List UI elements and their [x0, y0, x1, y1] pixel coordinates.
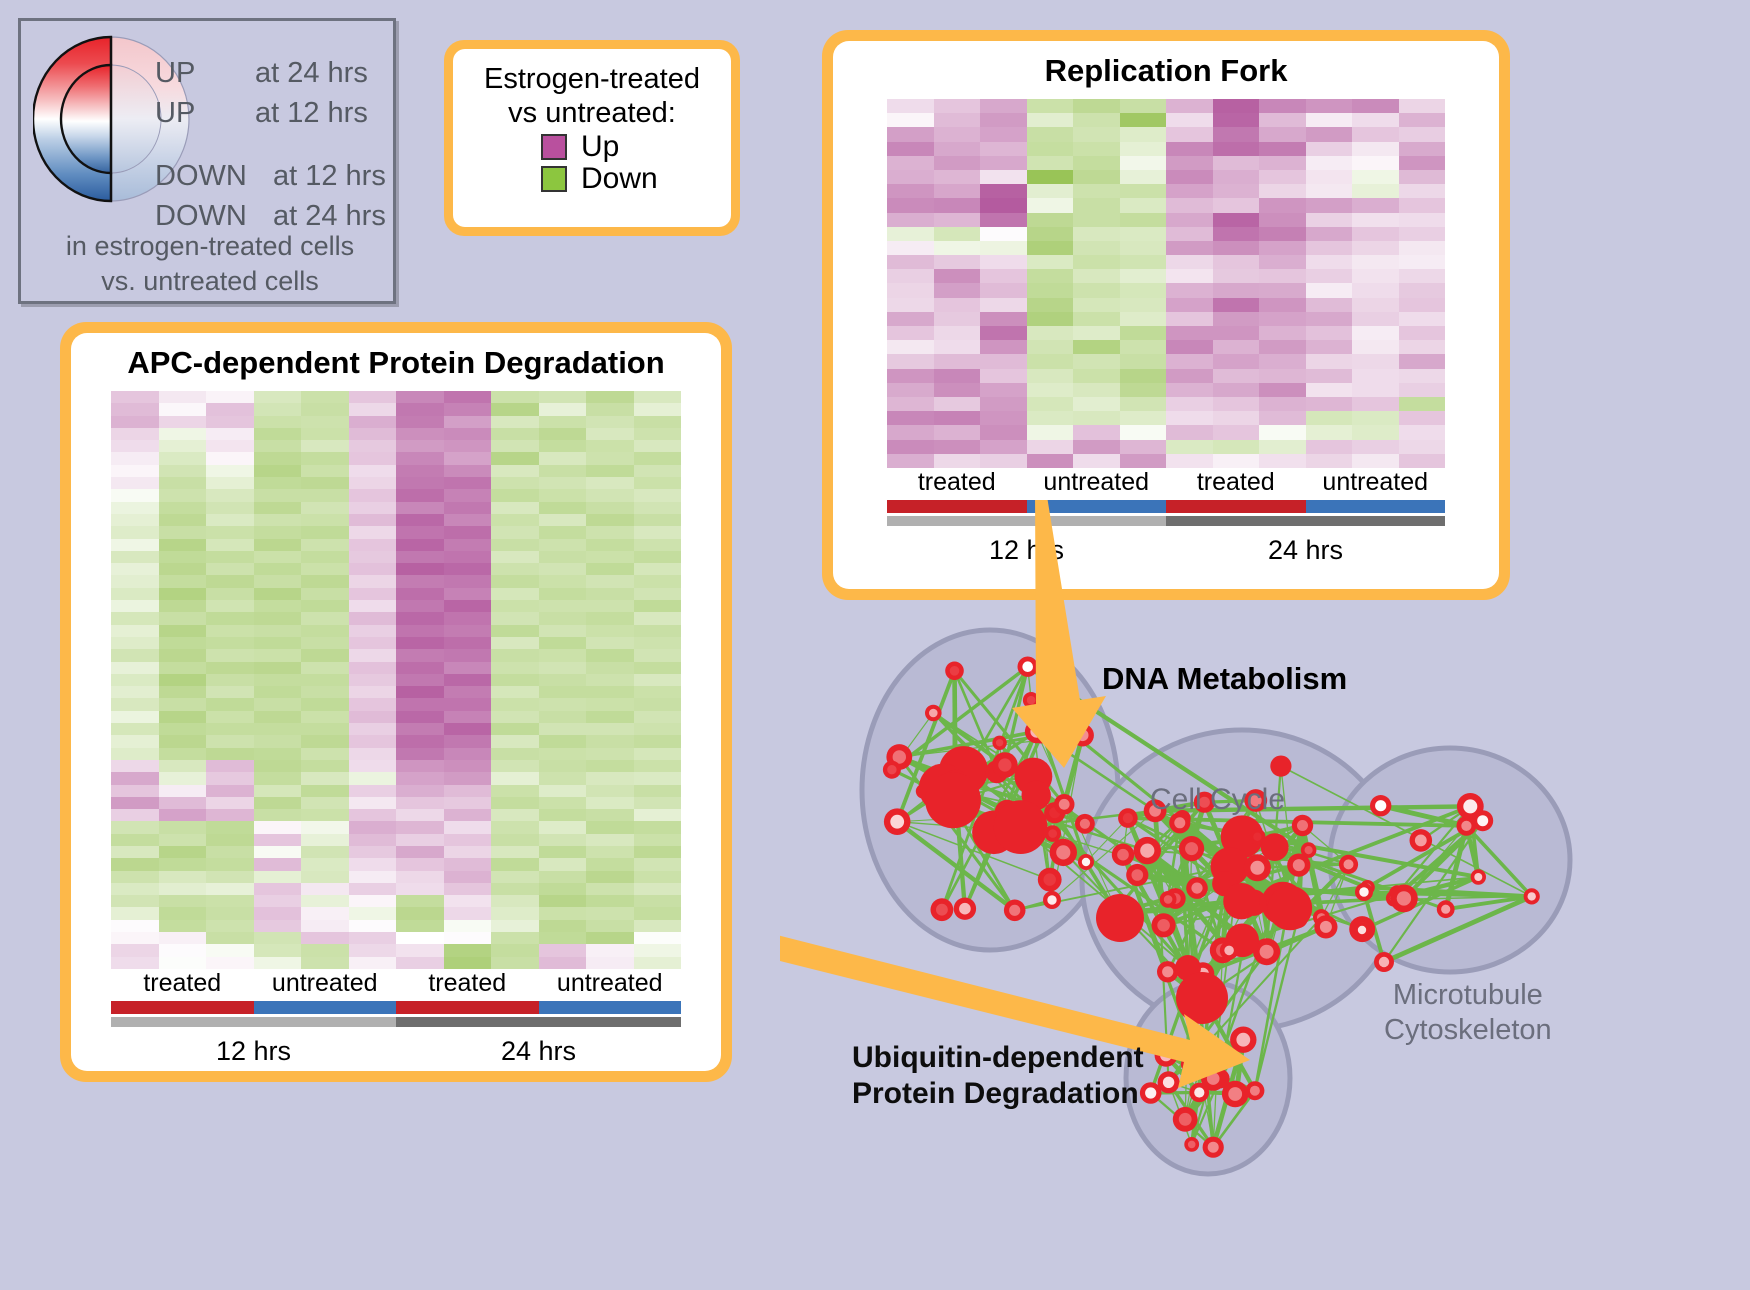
heatmap-row [887, 298, 1445, 312]
heatmap-cell [539, 514, 587, 526]
heatmap-cell [586, 871, 634, 883]
heatmap-cell [444, 883, 492, 895]
heatmap-cell [1166, 269, 1213, 283]
heatmap-cell [301, 575, 349, 587]
heatmap-group-label: untreated [1306, 468, 1446, 497]
heatmap-cell [1213, 354, 1260, 368]
heatmap-cell [887, 397, 934, 411]
heatmap-cell [444, 465, 492, 477]
heatmap-row [111, 760, 681, 772]
heatmap-cell [539, 637, 587, 649]
heatmap-cell [586, 932, 634, 944]
updown-legend-inner: Estrogen-treated vs untreated: Up Down [453, 49, 731, 227]
updown-legend-card: Estrogen-treated vs untreated: Up Down [444, 40, 740, 236]
heatmap-cell [111, 551, 159, 563]
heatmap-cell [159, 588, 207, 600]
heatmap-cell [1306, 454, 1353, 468]
heatmap-cell [444, 637, 492, 649]
heatmap-cell [1259, 113, 1306, 127]
heatmap-cell [396, 809, 444, 821]
heatmap-cell [1306, 170, 1353, 184]
heatmap-cell [539, 772, 587, 784]
heatmap-cell [539, 821, 587, 833]
heatmap-cell [934, 369, 981, 383]
heatmap-cell [1259, 170, 1306, 184]
heatmap-cell [1259, 255, 1306, 269]
heatmap-cell [444, 834, 492, 846]
heatmap-row [887, 170, 1445, 184]
heatmap-row [887, 340, 1445, 354]
heatmap-cell [1120, 241, 1167, 255]
heatmap-cell [980, 156, 1027, 170]
heatmap-cell [1120, 411, 1167, 425]
heatmap-cell [1120, 99, 1167, 113]
heatmap-cell [111, 920, 159, 932]
heatmap-cell [1213, 113, 1260, 127]
heatmap-cell [887, 369, 934, 383]
heatmap-cell [1352, 440, 1399, 454]
heatmap-cell [1213, 454, 1260, 468]
heatmap-cell [1352, 383, 1399, 397]
heatmap-cell [491, 871, 539, 883]
heatmap-cell [206, 662, 254, 674]
heatmap-cell [887, 340, 934, 354]
heatmap-cell [887, 312, 934, 326]
heatmap-cell [159, 711, 207, 723]
heatmap-cell [634, 452, 682, 464]
heatmap-cell [444, 575, 492, 587]
heatmap-cell [444, 502, 492, 514]
heatmap-cell [539, 452, 587, 464]
heatmap-cell [206, 944, 254, 956]
heatmap-cell [349, 489, 397, 501]
heatmap-cell [349, 391, 397, 403]
heatmap-cell [1073, 298, 1120, 312]
heatmap-cell [444, 391, 492, 403]
heatmap-cell [444, 858, 492, 870]
heatmap-cell [491, 957, 539, 969]
heatmap-row [887, 227, 1445, 241]
heatmap-cell [1213, 127, 1260, 141]
heatmap-cell [349, 612, 397, 624]
heatmap-cell [1259, 354, 1306, 368]
heatmap-cell [444, 539, 492, 551]
heatmap-cell [254, 403, 302, 415]
heatmap-cell [1259, 411, 1306, 425]
heatmap-cell [301, 452, 349, 464]
heatmap-cell [491, 440, 539, 452]
heatmap-cell [1073, 99, 1120, 113]
heatmap-cell [254, 883, 302, 895]
heatmap-cell [1352, 425, 1399, 439]
legend-row-down-12-label: DOWN [155, 160, 247, 193]
heatmap-cell [1213, 227, 1260, 241]
heatmap-row [887, 425, 1445, 439]
heatmap-cell [206, 563, 254, 575]
heatmap-cell [634, 858, 682, 870]
heatmap-cell [586, 575, 634, 587]
heatmap-cell [1073, 383, 1120, 397]
heatmap-group-bar [539, 1001, 682, 1014]
heatmap-cell [301, 551, 349, 563]
heatmap-row [111, 416, 681, 428]
heatmap-cell [634, 526, 682, 538]
heatmap-cell [539, 416, 587, 428]
heatmap-cell [634, 932, 682, 944]
heatmap-cell [1306, 142, 1353, 156]
heatmap-cell [539, 662, 587, 674]
heatmap-cell [1352, 213, 1399, 227]
heatmap-cell [111, 846, 159, 858]
heatmap-cell [301, 649, 349, 661]
heatmap-cell [1073, 411, 1120, 425]
heatmap-cell [159, 551, 207, 563]
heatmap-cell [301, 637, 349, 649]
heatmap-cell [491, 465, 539, 477]
heatmap-cell [539, 440, 587, 452]
heatmap-cell [206, 760, 254, 772]
gradient-legend-footer-line1: in estrogen-treated cells [21, 229, 399, 264]
heatmap-cell [491, 539, 539, 551]
heatmap-cell [254, 428, 302, 440]
down-label: Down [581, 164, 658, 194]
heatmap-cell [1027, 156, 1074, 170]
heatmap-cell [159, 465, 207, 477]
heatmap-row [887, 383, 1445, 397]
heatmap-cell [396, 858, 444, 870]
heatmap-cell [1166, 283, 1213, 297]
heatmap-cell [1166, 440, 1213, 454]
heatmap-cell [159, 957, 207, 969]
heatmap-cell [396, 502, 444, 514]
panel-apc-degradation: APC-dependent Protein Degradation treate… [60, 322, 732, 1082]
heatmap-cell [1399, 156, 1446, 170]
heatmap-row [887, 440, 1445, 454]
heatmap-cell [1166, 241, 1213, 255]
heatmap-cell [349, 563, 397, 575]
heatmap-cell [206, 797, 254, 809]
heatmap-row [111, 440, 681, 452]
heatmap-cell [444, 526, 492, 538]
heatmap-cell [491, 785, 539, 797]
heatmap-cell [1399, 340, 1446, 354]
heatmap-cell [539, 403, 587, 415]
heatmap-cell [491, 834, 539, 846]
heatmap-cell [539, 612, 587, 624]
heatmap-cell [349, 575, 397, 587]
heatmap-row [887, 411, 1445, 425]
heatmap-cell [349, 797, 397, 809]
heatmap-cell [634, 883, 682, 895]
heatmap-row [111, 428, 681, 440]
heatmap-cell [634, 748, 682, 760]
heatmap-cell [934, 425, 981, 439]
heatmap-cell [349, 649, 397, 661]
heatmap-cell [1352, 283, 1399, 297]
heatmap-cell [491, 551, 539, 563]
heatmap-cell [539, 797, 587, 809]
heatmap-cell [159, 871, 207, 883]
heatmap-cell [887, 283, 934, 297]
heatmap-row [111, 723, 681, 735]
heatmap-cell [1027, 340, 1074, 354]
heatmap-cell [1213, 184, 1260, 198]
heatmap-row [887, 198, 1445, 212]
heatmap-cell [159, 932, 207, 944]
heatmap-row [111, 502, 681, 514]
heatmap-cell [396, 452, 444, 464]
heatmap-cell [934, 283, 981, 297]
heatmap-cell [1306, 383, 1353, 397]
heatmap-cell [491, 858, 539, 870]
heatmap-cell [159, 428, 207, 440]
heatmap-cell [539, 539, 587, 551]
heatmap-cell [301, 502, 349, 514]
heatmap-cell [444, 600, 492, 612]
heatmap-row [887, 454, 1445, 468]
heatmap-cell [934, 411, 981, 425]
heatmap-cell [206, 821, 254, 833]
heatmap-cell [491, 686, 539, 698]
heatmap-cell [444, 612, 492, 624]
heatmap-cell [1352, 312, 1399, 326]
heatmap-cell [539, 858, 587, 870]
heatmap-cell [586, 489, 634, 501]
heatmap-cell [349, 772, 397, 784]
network-label-microtubule-cytoskeleton: Microtubule Cytoskeleton [1384, 978, 1552, 1048]
heatmap-cell [586, 600, 634, 612]
heatmap-cell [1259, 312, 1306, 326]
heatmap-cell [980, 369, 1027, 383]
heatmap-cell [396, 403, 444, 415]
gradient-legend-footer: in estrogen-treated cells vs. untreated … [21, 229, 399, 298]
heatmap-row [111, 551, 681, 563]
heatmap-cell [1073, 425, 1120, 439]
heatmap-row [111, 637, 681, 649]
heatmap-cell [111, 625, 159, 637]
heatmap-cell [206, 907, 254, 919]
heatmap-cell [111, 662, 159, 674]
heatmap-cell [349, 428, 397, 440]
heatmap-row [111, 465, 681, 477]
heatmap-cell [159, 391, 207, 403]
heatmap-cell [586, 834, 634, 846]
heatmap-cell [491, 944, 539, 956]
heatmap-cell [1213, 340, 1260, 354]
heatmap-cell [396, 723, 444, 735]
heatmap-cell [934, 298, 981, 312]
heatmap-cell [1213, 99, 1260, 113]
heatmap-cell [1399, 440, 1446, 454]
heatmap-cell [634, 416, 682, 428]
heatmap-cell [349, 477, 397, 489]
heatmap-cell [1213, 425, 1260, 439]
heatmap-cell [111, 637, 159, 649]
heatmap-cell [396, 797, 444, 809]
heatmap-cell [159, 944, 207, 956]
heatmap-cell [396, 686, 444, 698]
heatmap-cell [634, 735, 682, 747]
heatmap-cell [349, 600, 397, 612]
heatmap-row [887, 241, 1445, 255]
heatmap-cell [111, 526, 159, 538]
heatmap-cell [1027, 213, 1074, 227]
heatmap-cell [159, 686, 207, 698]
heatmap-cell [634, 674, 682, 686]
heatmap-cell [491, 514, 539, 526]
heatmap-cell [1166, 99, 1213, 113]
heatmap-cell [1213, 369, 1260, 383]
heatmap-cell [396, 698, 444, 710]
heatmap-cell [301, 883, 349, 895]
heatmap-cell [1399, 354, 1446, 368]
heatmap-cell [396, 907, 444, 919]
heatmap-cell [1259, 298, 1306, 312]
heatmap-cell [349, 871, 397, 883]
heatmap-group-bar [111, 1001, 254, 1014]
heatmap-cell [491, 391, 539, 403]
heatmap-cell [887, 142, 934, 156]
heatmap-cell [444, 711, 492, 723]
heatmap-cell [111, 563, 159, 575]
heatmap-cell [1399, 312, 1446, 326]
heatmap-cell [206, 600, 254, 612]
heatmap-cell [1352, 397, 1399, 411]
heatmap-cell [539, 600, 587, 612]
heatmap-cell [349, 957, 397, 969]
heatmap-cell [396, 748, 444, 760]
heatmap-cell [491, 575, 539, 587]
heatmap-cell [634, 920, 682, 932]
heatmap-cell [634, 514, 682, 526]
heatmap-cell [206, 428, 254, 440]
heatmap-cell [396, 920, 444, 932]
heatmap-cell [1073, 184, 1120, 198]
heatmap-group-label: untreated [539, 969, 682, 998]
heatmap-row [111, 489, 681, 501]
heatmap-row [111, 563, 681, 575]
heatmap-cell [1120, 269, 1167, 283]
heatmap-time-label: 12 hrs [111, 1036, 396, 1067]
heatmap-cell [444, 440, 492, 452]
heatmap-cell [396, 465, 444, 477]
heatmap-cell [980, 241, 1027, 255]
heatmap-cell [1259, 227, 1306, 241]
heatmap-cell [111, 907, 159, 919]
heatmap-cell [1213, 411, 1260, 425]
heatmap-cell [1399, 198, 1446, 212]
heatmap-cell [159, 625, 207, 637]
heatmap-cell [634, 600, 682, 612]
heatmap-cell [206, 452, 254, 464]
heatmap-cell [301, 957, 349, 969]
heatmap-cell [634, 563, 682, 575]
heatmap-cell [159, 735, 207, 747]
heatmap-row [111, 821, 681, 833]
heatmap-cell [586, 625, 634, 637]
heatmap-cell [887, 269, 934, 283]
heatmap-cell [1027, 326, 1074, 340]
heatmap-cell [159, 637, 207, 649]
heatmap-cell [539, 465, 587, 477]
heatmap-cell [539, 907, 587, 919]
arrow-to-replication-fork [1012, 500, 1106, 768]
heatmap-cell [539, 846, 587, 858]
heatmap-cell [1259, 425, 1306, 439]
heatmap-cell [396, 834, 444, 846]
heatmap-cell [1027, 184, 1074, 198]
heatmap-cell [444, 821, 492, 833]
heatmap-cell [491, 698, 539, 710]
heatmap-cell [1027, 283, 1074, 297]
heatmap-cell [1120, 383, 1167, 397]
heatmap-row [111, 575, 681, 587]
heatmap-cell [586, 662, 634, 674]
heatmap-cell [254, 920, 302, 932]
heatmap-cell [444, 944, 492, 956]
heatmap-cell [444, 674, 492, 686]
heatmap-time-bar [111, 1017, 396, 1027]
heatmap-cell [396, 514, 444, 526]
legend-row-up-24-time: at 24 hrs [255, 57, 368, 90]
heatmap-cell [1306, 198, 1353, 212]
heatmap-cell [1073, 227, 1120, 241]
heatmap-cell [491, 760, 539, 772]
heatmap-row [111, 846, 681, 858]
heatmap-cell [301, 403, 349, 415]
heatmap-cell [934, 312, 981, 326]
heatmap-row [111, 858, 681, 870]
heatmap-cell [634, 489, 682, 501]
legend-item-down: Down [541, 164, 721, 194]
heatmap-row [111, 944, 681, 956]
heatmap-cell [396, 674, 444, 686]
panel-apc-title: APC-dependent Protein Degradation [127, 345, 664, 381]
heatmap-cell [1120, 283, 1167, 297]
heatmap-cell [206, 785, 254, 797]
heatmap-cell [1352, 170, 1399, 184]
heatmap-cell [111, 612, 159, 624]
heatmap-cell [634, 785, 682, 797]
heatmap-cell [1073, 369, 1120, 383]
heatmap-cell [1399, 298, 1446, 312]
heatmap-cell [1166, 411, 1213, 425]
heatmap-cell [980, 99, 1027, 113]
heatmap-cell [159, 575, 207, 587]
legend-item-up: Up [541, 132, 721, 162]
heatmap-cell [349, 748, 397, 760]
heatmap-cell [1166, 326, 1213, 340]
heatmap-cell [634, 649, 682, 661]
heatmap-cell [586, 674, 634, 686]
heatmap-cell [491, 588, 539, 600]
heatmap-cell [301, 465, 349, 477]
heatmap-cell [111, 575, 159, 587]
heatmap-cell [444, 588, 492, 600]
heatmap-cell [586, 760, 634, 772]
heatmap-cell [254, 452, 302, 464]
heatmap-cell [349, 674, 397, 686]
heatmap-cell [349, 588, 397, 600]
callout-arrows [780, 500, 1750, 1290]
heatmap-row [111, 932, 681, 944]
heatmap-cell [1027, 383, 1074, 397]
heatmap-cell [1027, 113, 1074, 127]
heatmap-cell [539, 944, 587, 956]
heatmap-cell [444, 846, 492, 858]
heatmap-cell [539, 760, 587, 772]
heatmap-cell [491, 772, 539, 784]
